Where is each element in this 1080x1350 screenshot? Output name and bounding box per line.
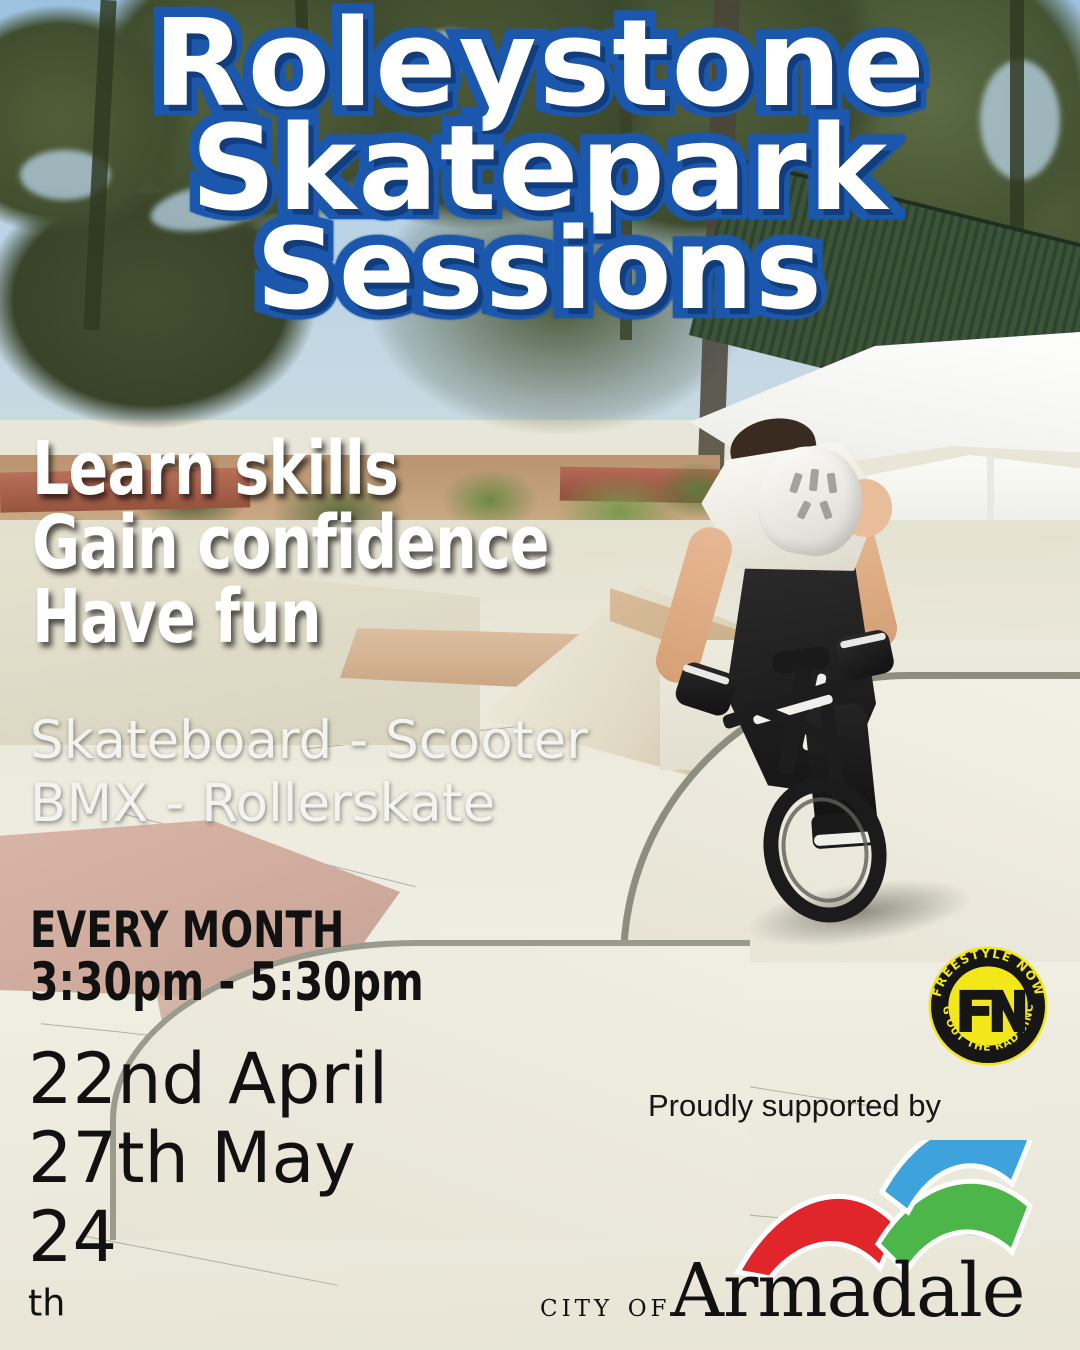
headline-gain-confidence: Gain confidence (32, 506, 549, 580)
fn-monogram (959, 990, 1025, 1032)
date-item-april: 22nd April (28, 1040, 388, 1119)
armadale-wordmark: CITY OFArmadale (540, 1248, 1080, 1334)
headline-learn-skills: Learn skills (32, 432, 549, 506)
date-item-june: 24th June (28, 1198, 388, 1350)
armadale-name: Armadale (671, 1248, 1025, 1334)
disciplines-line-2: BMX - Rollerskate (30, 773, 588, 836)
city-of-armadale-logo: CITY OFArmadale (540, 1140, 1080, 1340)
event-poster: Roleystone Skatepark Sessions Learn skil… (0, 0, 1080, 1350)
dates-list: 22nd April 27th May 24th June (28, 1040, 388, 1350)
bmx-rider (660, 405, 990, 925)
date-item-may: 27th May (28, 1119, 388, 1198)
freestyle-now-logo: • FREESTYLE NOW • ROLLING OUT THE RAD SI… (915, 944, 1061, 1068)
title-line-3: Sessions (0, 219, 1080, 322)
frequency-label: EVERY MONTH (30, 905, 424, 956)
schedule-block: EVERY MONTH 3:30pm - 5:30pm (30, 905, 488, 1010)
benefit-headlines: Learn skills Gain confidence Have fun (32, 432, 619, 654)
headline-have-fun: Have fun (32, 580, 549, 654)
date-june-day: 24 (28, 1198, 388, 1277)
supported-by-label: Proudly supported by (648, 1088, 941, 1124)
poster-title: Roleystone Skatepark Sessions (0, 10, 1080, 322)
time-range: 3:30pm - 5:30pm (30, 956, 424, 1010)
disciplines-line-1: Skateboard - Scooter (30, 710, 588, 773)
armadale-city-of: CITY OF (540, 1285, 671, 1324)
disciplines-list: Skateboard - Scooter BMX - Rollerskate (30, 710, 588, 835)
date-june-suffix: th (28, 1282, 65, 1325)
